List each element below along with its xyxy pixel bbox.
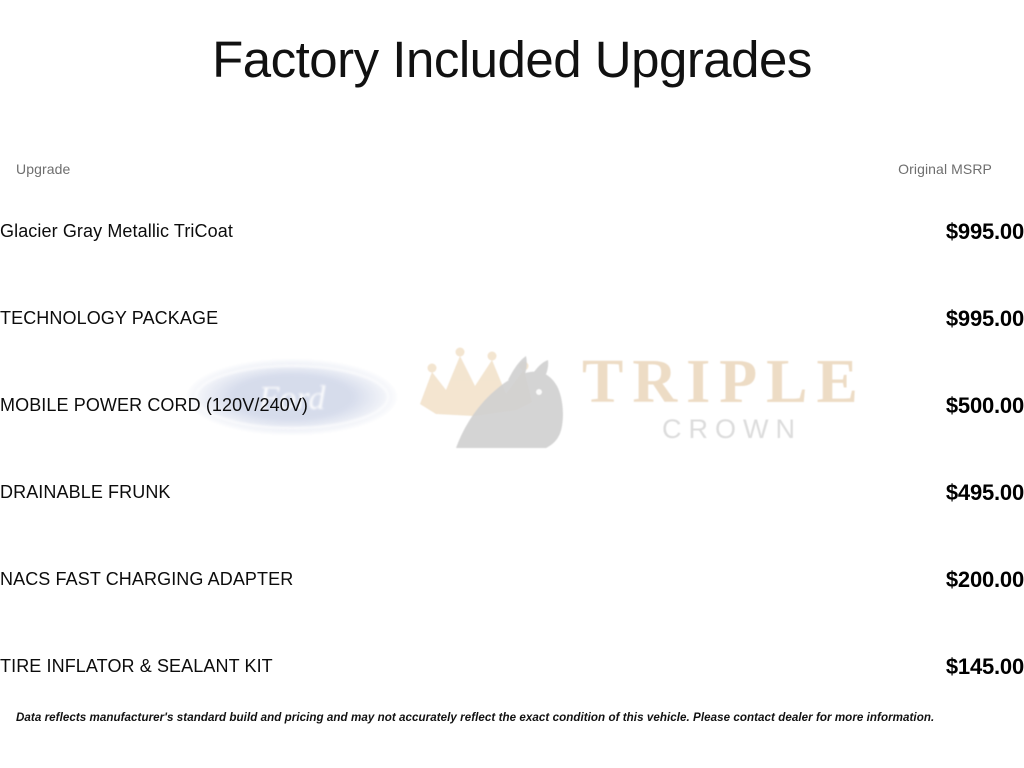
upgrade-price: $995.00 (700, 188, 1024, 275)
upgrade-name: DRAINABLE FRUNK (0, 449, 700, 536)
upgrades-table: Upgrade Original MSRP Glacier Gray Metal… (0, 150, 1024, 710)
table-row: TECHNOLOGY PACKAGE $995.00 (0, 275, 1024, 362)
upgrade-price: $200.00 (700, 536, 1024, 623)
upgrade-name: TIRE INFLATOR & SEALANT KIT (0, 623, 700, 710)
table-row: TIRE INFLATOR & SEALANT KIT $145.00 (0, 623, 1024, 710)
upgrade-price: $500.00 (700, 362, 1024, 449)
upgrade-name: MOBILE POWER CORD (120V/240V) (0, 362, 700, 449)
table-row: Glacier Gray Metallic TriCoat $995.00 (0, 188, 1024, 275)
upgrades-table-container: Upgrade Original MSRP Glacier Gray Metal… (0, 150, 1024, 710)
upgrade-name: NACS FAST CHARGING ADAPTER (0, 536, 700, 623)
upgrades-page: Ford TRIPLE CROWN Fac (0, 0, 1024, 768)
column-header-msrp: Original MSRP (700, 150, 1024, 188)
upgrade-price: $495.00 (700, 449, 1024, 536)
upgrade-price: $145.00 (700, 623, 1024, 710)
disclaimer-text: Data reflects manufacturer's standard bu… (16, 710, 1008, 725)
page-title: Factory Included Upgrades (0, 32, 1024, 88)
table-row: MOBILE POWER CORD (120V/240V) $500.00 (0, 362, 1024, 449)
table-header-row: Upgrade Original MSRP (0, 150, 1024, 188)
column-header-upgrade: Upgrade (0, 150, 700, 188)
upgrade-name: TECHNOLOGY PACKAGE (0, 275, 700, 362)
upgrade-name: Glacier Gray Metallic TriCoat (0, 188, 700, 275)
table-row: DRAINABLE FRUNK $495.00 (0, 449, 1024, 536)
upgrade-price: $995.00 (700, 275, 1024, 362)
table-row: NACS FAST CHARGING ADAPTER $200.00 (0, 536, 1024, 623)
table-header: Upgrade Original MSRP (0, 150, 1024, 188)
table-body: Glacier Gray Metallic TriCoat $995.00 TE… (0, 188, 1024, 710)
